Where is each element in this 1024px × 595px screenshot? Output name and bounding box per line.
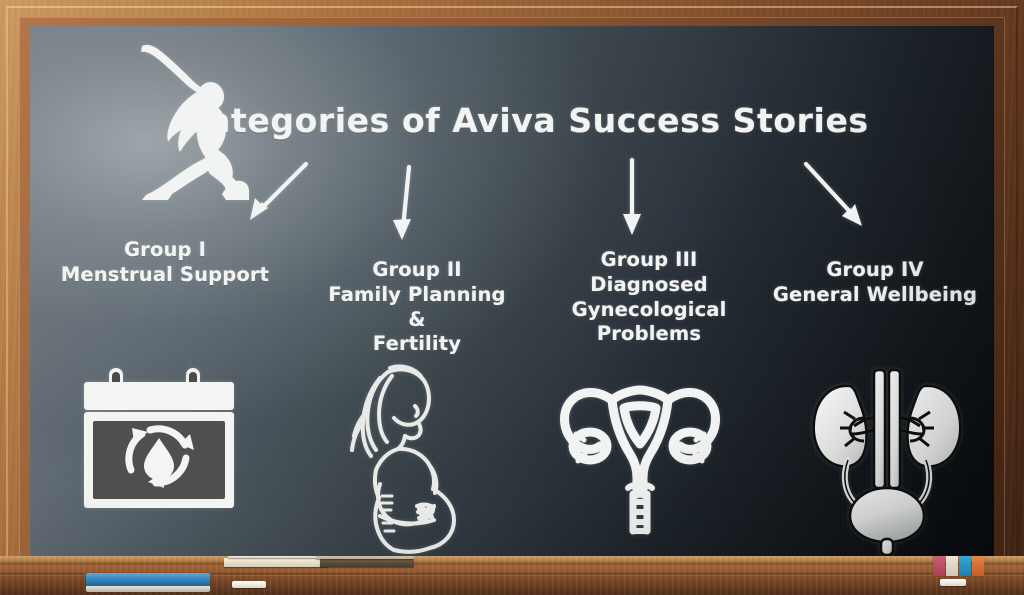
column-group-3: Group III Diagnosed Gynecological Proble… bbox=[538, 248, 760, 347]
chalk-stick[interactable] bbox=[232, 581, 266, 588]
chalkboard-surface: Categories of Aviva Success Stories bbox=[30, 26, 994, 556]
column-group-1: Group I Menstrual Support bbox=[30, 238, 300, 288]
group-2-label: Group II Family Planning & Fertility bbox=[302, 258, 532, 357]
arrow-down-icon bbox=[608, 156, 656, 238]
standing-books[interactable] bbox=[933, 556, 984, 576]
chalk-stick[interactable] bbox=[940, 579, 966, 586]
chalk-eraser[interactable] bbox=[86, 573, 210, 587]
yoga-woman-silhouette-icon bbox=[122, 34, 252, 204]
arrow-down-icon bbox=[378, 162, 430, 244]
menstrual-calendar-icon bbox=[74, 366, 244, 516]
chalk-tray bbox=[0, 556, 1024, 595]
uterus-icon bbox=[540, 366, 740, 536]
group-4-label: Group IV General Wellbeing bbox=[755, 258, 994, 308]
column-group-2: Group II Family Planning & Fertility bbox=[302, 258, 532, 357]
chalk-tray-lip bbox=[0, 556, 1024, 563]
group-3-label: Group III Diagnosed Gynecological Proble… bbox=[538, 248, 760, 347]
arrow-down-right-icon bbox=[798, 158, 870, 236]
urinary-system-icon bbox=[792, 356, 982, 556]
group-1-label: Group I Menstrual Support bbox=[30, 238, 300, 288]
arrow-down-left-icon bbox=[242, 156, 314, 228]
eraser-felt bbox=[86, 586, 210, 592]
column-group-4: Group IV General Wellbeing bbox=[755, 258, 994, 308]
pregnant-woman-icon bbox=[322, 356, 482, 556]
